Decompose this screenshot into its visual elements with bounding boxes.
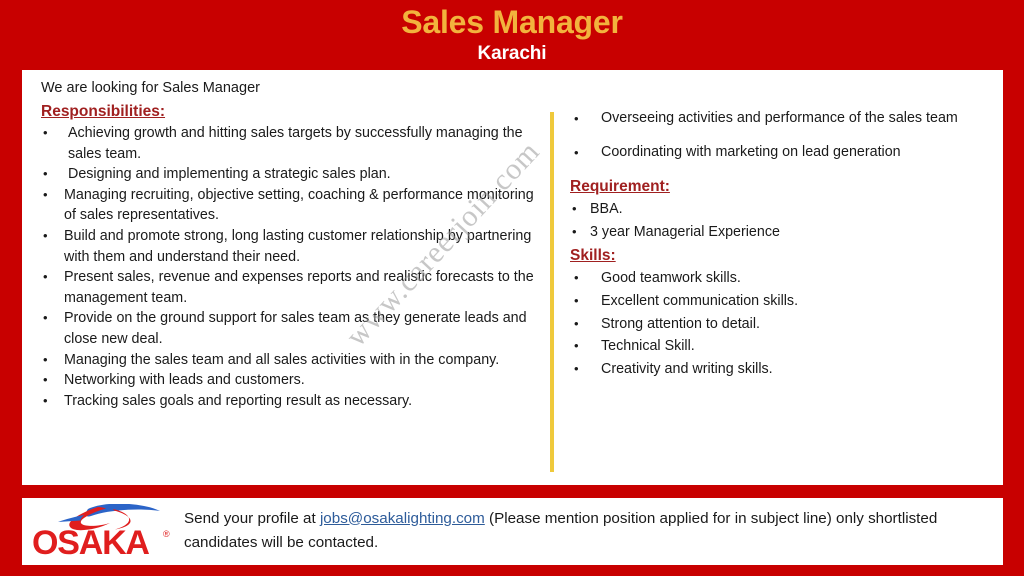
list-item: Managing recruiting, objective setting, … [34, 185, 542, 226]
list-item: Present sales, revenue and expenses repo… [34, 267, 542, 308]
requirement-heading: Requirement: [568, 175, 993, 198]
list-item: Build and promote strong, long lasting c… [34, 226, 542, 267]
job-details-card: We are looking for Sales Manager Respons… [22, 70, 1003, 485]
skills-heading: Skills: [568, 244, 993, 267]
email-link[interactable]: jobs@osakalighting.com [320, 510, 485, 527]
contact-instructions: Send your profile at jobs@osakalighting.… [178, 507, 993, 557]
list-item: Tracking sales goals and reporting resul… [34, 391, 542, 412]
footer-contact-bar: OSAKA ® Send your profile at jobs@osakal… [22, 498, 1003, 565]
registered-mark-icon: ® [163, 529, 170, 539]
header-banner: Sales Manager Karachi [0, 0, 1024, 70]
list-item: Technical Skill. [568, 335, 993, 358]
intro-text: We are looking for Sales Manager [34, 78, 542, 99]
responsibilities-heading: Responsibilities: [34, 100, 542, 123]
list-item: Managing the sales team and all sales ac… [34, 350, 542, 371]
job-location: Karachi [0, 42, 1024, 66]
requirements-column: Overseeing activities and performance of… [554, 70, 1003, 485]
list-item: Excellent communication skills. [568, 290, 993, 313]
list-item: Provide on the ground support for sales … [34, 308, 542, 349]
list-item: Designing and implementing a strategic s… [34, 164, 542, 185]
list-item: Coordinating with marketing on lead gene… [568, 142, 993, 164]
list-item: Good teamwork skills. [568, 267, 993, 290]
contact-text-before: Send your profile at [184, 510, 320, 527]
overview-list: Overseeing activities and performance of… [568, 108, 993, 163]
osaka-logo: OSAKA ® [30, 503, 178, 561]
list-item: Achieving growth and hitting sales targe… [34, 123, 542, 164]
list-item: Strong attention to detail. [568, 313, 993, 336]
list-item: BBA. [568, 198, 993, 221]
list-item: Overseeing activities and performance of… [568, 108, 993, 130]
page-title: Sales Manager [0, 2, 1024, 42]
responsibilities-list: Achieving growth and hitting sales targe… [34, 123, 542, 411]
skills-list: Good teamwork skills. Excellent communic… [568, 267, 993, 381]
list-item: 3 year Managerial Experience [568, 221, 993, 244]
list-item: Creativity and writing skills. [568, 358, 993, 381]
requirements-list: BBA. 3 year Managerial Experience [568, 198, 993, 243]
responsibilities-column: We are looking for Sales Manager Respons… [22, 70, 550, 485]
list-item: Networking with leads and customers. [34, 370, 542, 391]
logo-wordmark: OSAKA [32, 525, 149, 561]
